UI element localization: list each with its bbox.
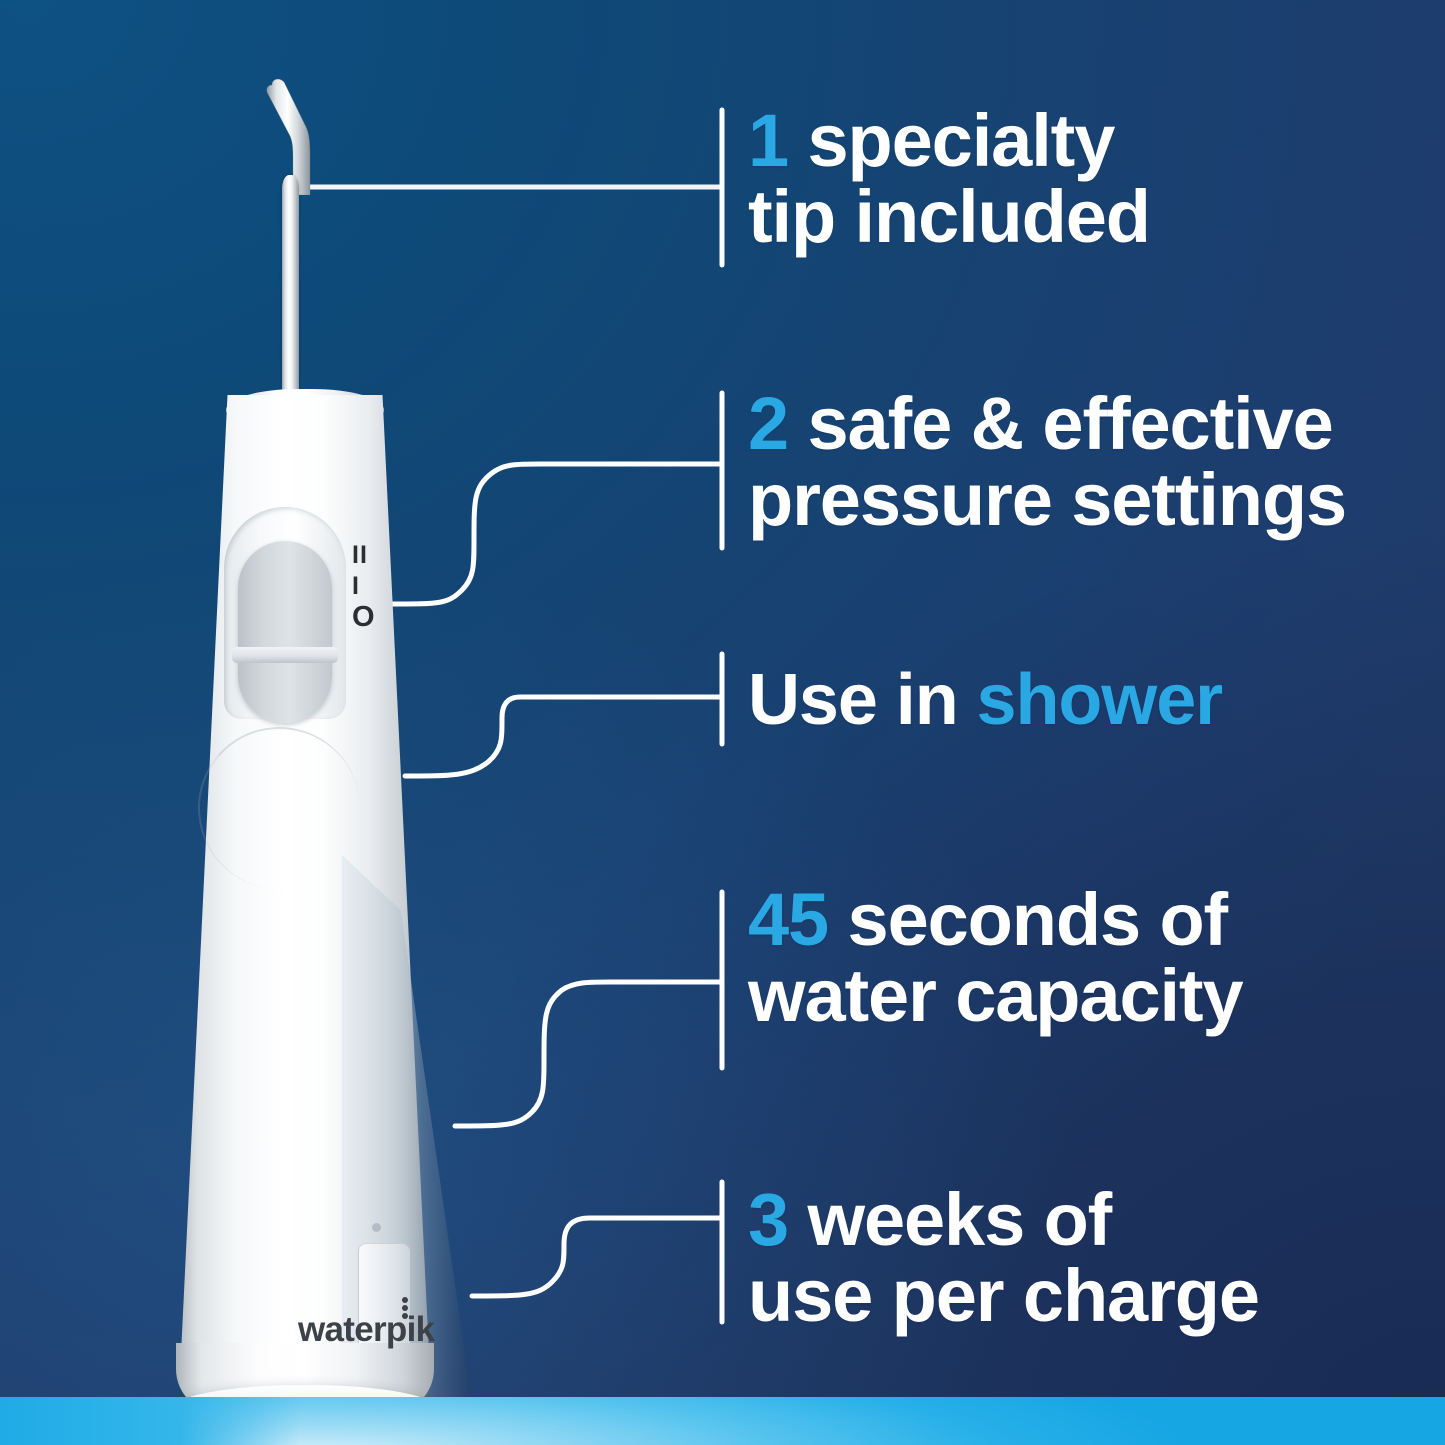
waterpik-logo: waterpik xyxy=(298,1310,434,1350)
floor-band-left-accent xyxy=(0,1397,300,1445)
callout-1-line2: tip included xyxy=(748,175,1150,258)
pressure-switch-markings: II I O xyxy=(352,543,392,632)
waterpik-logo-after: k xyxy=(416,1310,435,1349)
callout-4-line2: water capacity xyxy=(748,954,1243,1037)
pressure-switch-thumb[interactable] xyxy=(238,541,332,723)
callout-2-number: 2 xyxy=(748,382,788,465)
callout-5-line2: use per charge xyxy=(748,1254,1259,1337)
callout-4-line1: seconds of xyxy=(828,878,1227,961)
switch-mark-high: II xyxy=(352,543,392,568)
pressure-switch-ridge[interactable] xyxy=(232,647,338,663)
callout-use-in-shower: Use in shower xyxy=(748,663,1388,737)
callout-pressure-settings: 2 safe & effective pressure settings xyxy=(748,386,1408,538)
switch-mark-low: I xyxy=(352,574,392,599)
callout-2-line2: pressure settings xyxy=(748,458,1346,541)
callout-5-number: 3 xyxy=(748,1178,788,1261)
callout-use-per-charge: 3 weeks of use per charge xyxy=(748,1182,1388,1334)
reservoir-pin xyxy=(372,1223,381,1232)
waterpik-logo-before: waterp xyxy=(298,1310,407,1349)
switch-mark-off: O xyxy=(352,603,392,632)
callout-4-number: 45 xyxy=(748,878,828,961)
callout-water-capacity: 45 seconds of water capacity xyxy=(748,882,1388,1034)
callout-3-highlight: shower xyxy=(977,660,1223,740)
water-flosser-device: II I O waterpik xyxy=(120,55,540,1415)
callout-1-line1: specialty xyxy=(788,99,1114,182)
callout-1-number: 1 xyxy=(748,99,788,182)
callout-specialty-tip: 1 specialty tip included xyxy=(748,103,1388,255)
callout-3-prefix: Use in xyxy=(748,660,977,740)
callout-5-line1: weeks of xyxy=(788,1178,1111,1261)
callout-2-line1: safe & effective xyxy=(788,382,1333,465)
infographic-canvas: II I O waterpik 1 specialty tip included… xyxy=(0,0,1445,1445)
waterpik-logo-dots-icon xyxy=(402,1297,409,1321)
